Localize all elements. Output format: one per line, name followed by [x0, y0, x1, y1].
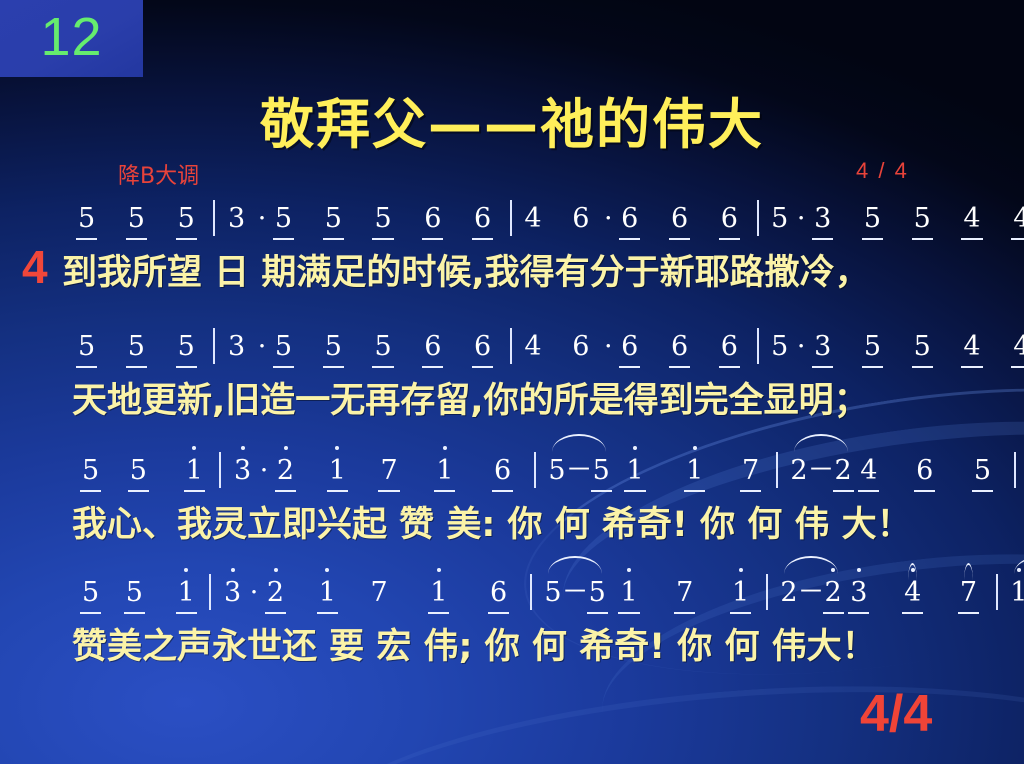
- note: 2: [277, 455, 294, 486]
- presentation-slide: 12 敬拜父——祂的伟大 降B大调 4 / 4 4/4 5 5 5 3 · 5 …: [0, 0, 1024, 764]
- note: 6: [671, 331, 688, 362]
- note: 3: [228, 203, 245, 234]
- dotted-rhythm-dot: ·: [604, 331, 613, 362]
- barline: [1014, 452, 1016, 488]
- note: 5: [589, 577, 606, 608]
- note: 5: [864, 331, 881, 362]
- barline: [510, 200, 512, 236]
- note: 5: [325, 331, 342, 362]
- tie-slur: 2－2: [780, 570, 841, 609]
- note: 5: [864, 203, 881, 234]
- note: 2: [835, 455, 852, 486]
- note: 6: [916, 455, 933, 486]
- note: 1: [1010, 577, 1024, 608]
- note: 6: [424, 203, 441, 234]
- note: 5: [126, 577, 143, 608]
- note: 2: [780, 577, 797, 608]
- tie-slur: 2－2: [790, 448, 851, 487]
- note: 5: [128, 203, 145, 234]
- sustain-dash: －: [808, 448, 835, 487]
- note: 3: [814, 203, 831, 234]
- note: 5: [78, 331, 95, 362]
- note: 5: [82, 577, 99, 608]
- note: 7: [370, 577, 387, 608]
- tie-slur: 1－1: [1010, 570, 1024, 609]
- lyric-row-3: 我心、我灵立即兴起 赞 美: 你 何 希奇! 你 何 伟 大！: [0, 496, 1024, 547]
- note: 7: [742, 455, 759, 486]
- note: 3: [234, 455, 251, 486]
- notation-row-2: 5 5 5 3 · 5 5 5 6 6 4 6 · 6 6 6 5 · 3 5 …: [0, 324, 1024, 370]
- barline: [766, 574, 768, 610]
- verse-number-marker: 4: [22, 244, 48, 290]
- note: 1: [626, 455, 643, 486]
- dotted-rhythm-dot: ·: [258, 203, 267, 234]
- music-system-4: 5 5 1 3 · 2 1 7 1 6 5－5 1 7 1 2－2 3 4 7 …: [0, 570, 1024, 669]
- note: 1: [178, 577, 195, 608]
- note: 6: [424, 331, 441, 362]
- barline: [530, 574, 532, 610]
- tie-slur: 5－5: [548, 448, 609, 487]
- time-signature-bottom: 4/4: [860, 684, 932, 744]
- lyric-text: 天地更新,旧造一无再存留,你的所是得到完全显明；: [72, 381, 869, 421]
- note: 5: [82, 455, 99, 486]
- barline: [757, 200, 759, 236]
- barline: [510, 328, 512, 364]
- note: 4: [860, 455, 877, 486]
- note: 6: [572, 203, 589, 234]
- slide-number-badge: 12: [0, 0, 143, 77]
- barline: [213, 328, 215, 364]
- time-signature-top: 4 / 4: [856, 158, 909, 184]
- note: 5: [771, 203, 788, 234]
- note: 5: [130, 455, 147, 486]
- note: 4: [904, 577, 921, 608]
- note: 3: [228, 331, 245, 362]
- barline: [776, 452, 778, 488]
- key-signature-label: 降B大调: [118, 158, 199, 190]
- note: 5: [914, 331, 931, 362]
- note: 1: [430, 577, 447, 608]
- lyric-row-4: 赞美之声永世还 要 宏 伟; 你 何 希奇! 你 何 伟大！: [0, 618, 1024, 669]
- dotted-rhythm-dot: ·: [260, 455, 269, 486]
- page-title: 敬拜父——祂的伟大: [0, 80, 1024, 159]
- note: 6: [721, 331, 738, 362]
- music-system-3: 5 5 1 3 · 2 1 7 1 6 5－5 1 1 7 2－2 4 6 5 …: [0, 448, 1024, 547]
- lyric-text: 赞美之声永世还 要 宏 伟; 你 何 希奇! 你 何 伟大！: [72, 627, 877, 667]
- tie-slur: 5－5: [544, 570, 605, 609]
- note: 1: [436, 455, 453, 486]
- lyric-row-1: 到我所望 日 期满足的时候,我得有分于新耶路撒冷，: [0, 244, 1024, 295]
- note: 5: [78, 203, 95, 234]
- dotted-rhythm-dot: ·: [604, 203, 613, 234]
- lyric-text: 我心、我灵立即兴起 赞 美: 你 何 希奇! 你 何 伟 大！: [72, 505, 912, 545]
- note: 1: [186, 455, 203, 486]
- music-system-1: 5 5 5 3 · 5 5 5 6 6 4 6 · 6 6 6 5 · 3 5 …: [0, 196, 1024, 295]
- tie-slur: 4: [904, 577, 921, 608]
- sustain-dash: －: [566, 448, 593, 487]
- notation-row-4: 5 5 1 3 · 2 1 7 1 6 5－5 1 7 1 2－2 3 4 7 …: [0, 570, 1024, 616]
- tie-slur: 7: [960, 577, 977, 608]
- note: 6: [494, 455, 511, 486]
- note: 7: [960, 577, 977, 608]
- note: 4: [1013, 331, 1024, 362]
- barline: [219, 452, 221, 488]
- barline: [209, 574, 211, 610]
- note: 3: [224, 577, 241, 608]
- dotted-rhythm-dot: ·: [258, 331, 267, 362]
- note: 2: [790, 455, 807, 486]
- note: 5: [593, 455, 610, 486]
- note: 6: [474, 203, 491, 234]
- sustain-dash: －: [798, 570, 825, 609]
- note: 5: [128, 331, 145, 362]
- dotted-rhythm-dot: ·: [250, 577, 259, 608]
- notation-row-3: 5 5 1 3 · 2 1 7 1 6 5－5 1 1 7 2－2 4 6 5 …: [0, 448, 1024, 494]
- note: 5: [771, 331, 788, 362]
- note: 4: [1013, 203, 1024, 234]
- notation-row-1: 5 5 5 3 · 5 5 5 6 6 4 6 · 6 6 6 5 · 3 5 …: [0, 196, 1024, 242]
- note: 7: [380, 455, 397, 486]
- note: 4: [963, 331, 980, 362]
- note: 1: [319, 577, 336, 608]
- lyric-row-2: 天地更新,旧造一无再存留,你的所是得到完全显明；: [0, 372, 1024, 423]
- note: 5: [374, 203, 391, 234]
- note: 4: [963, 203, 980, 234]
- note: 2: [267, 577, 284, 608]
- note: 1: [329, 455, 346, 486]
- lyric-text: 到我所望 日 期满足的时候,我得有分于新耶路撒冷，: [62, 253, 870, 293]
- note: 5: [974, 455, 991, 486]
- note: 5: [178, 331, 195, 362]
- note: 4: [524, 331, 541, 362]
- note: 1: [732, 577, 749, 608]
- barline: [534, 452, 536, 488]
- note: 6: [474, 331, 491, 362]
- note: 6: [572, 331, 589, 362]
- note: 5: [275, 331, 292, 362]
- barline: [213, 200, 215, 236]
- sustain-dash: －: [562, 570, 589, 609]
- note: 1: [620, 577, 637, 608]
- background-swoosh-2: [546, 382, 1024, 721]
- note: 6: [621, 203, 638, 234]
- dotted-rhythm-dot: ·: [797, 331, 806, 362]
- note: 5: [325, 203, 342, 234]
- note: 2: [825, 577, 842, 608]
- note: 7: [676, 577, 693, 608]
- note: 1: [686, 455, 703, 486]
- note: 5: [548, 455, 565, 486]
- note: 5: [914, 203, 931, 234]
- barline: [996, 574, 998, 610]
- note: 6: [671, 203, 688, 234]
- note: 5: [178, 203, 195, 234]
- note: 4: [524, 203, 541, 234]
- note: 3: [850, 577, 867, 608]
- slide-number: 12: [40, 10, 102, 68]
- note: 6: [721, 203, 738, 234]
- note: 6: [621, 331, 638, 362]
- barline: [757, 328, 759, 364]
- music-system-2: 5 5 5 3 · 5 5 5 6 6 4 6 · 6 6 6 5 · 3 5 …: [0, 324, 1024, 423]
- note: 5: [275, 203, 292, 234]
- note: 5: [374, 331, 391, 362]
- dotted-rhythm-dot: ·: [797, 203, 806, 234]
- note: 5: [544, 577, 561, 608]
- note: 6: [490, 577, 507, 608]
- note: 3: [814, 331, 831, 362]
